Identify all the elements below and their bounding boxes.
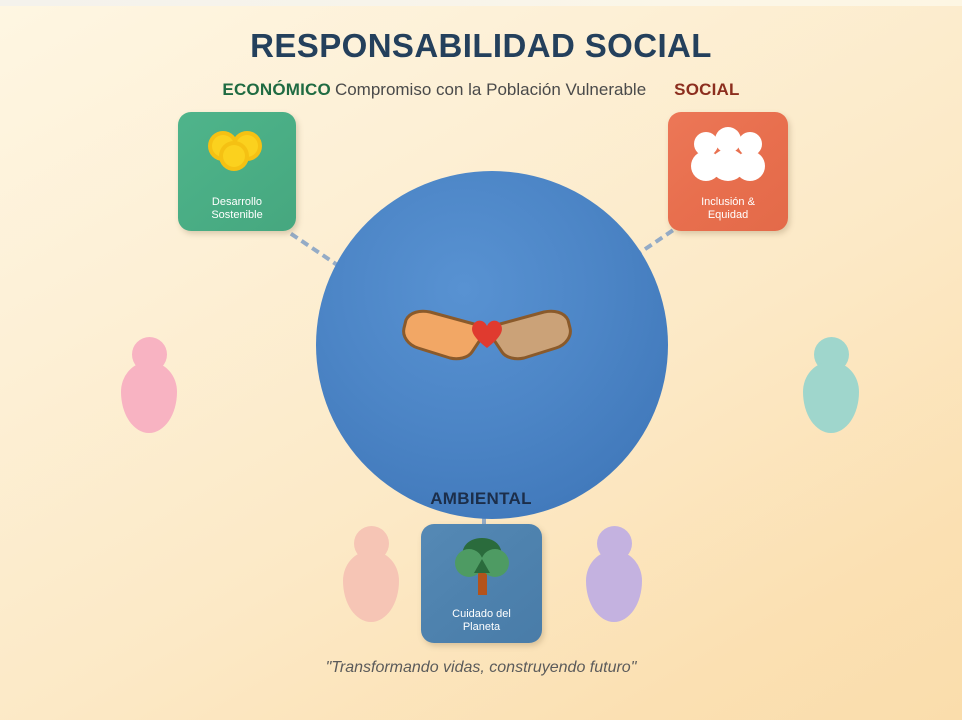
pillar-card-social[interactable]: Inclusión & Equidad [668, 112, 788, 231]
silhouette-salmon [340, 526, 402, 622]
silhouette-body [803, 362, 859, 433]
silhouette-body [121, 362, 177, 433]
silhouette-head [132, 337, 167, 372]
pillar-card-environment[interactable]: Cuidado del Planeta [421, 524, 542, 643]
page-title: RESPONSABILIDAD SOCIAL [0, 27, 962, 65]
silhouette-head [597, 526, 632, 561]
pillar-card-label: Inclusión & Equidad [668, 196, 788, 231]
top-edge-strip [0, 0, 962, 6]
pillar-heading-economico: ECONÓMICO [222, 80, 331, 99]
tree-icon-wrap [421, 524, 542, 608]
silhouette-lavender [583, 526, 645, 622]
people-group-icon-wrap [668, 112, 788, 196]
slide-canvas: RESPONSABILIDAD SOCIAL ECONÓMICOCompromi… [0, 0, 962, 720]
pillar-card-label: Desarrollo Sostenible [178, 196, 296, 231]
hands-holding-heart-icon [396, 298, 578, 362]
subtitle-row: ECONÓMICOCompromiso con la Población Vul… [0, 80, 962, 100]
people-group-icon [689, 127, 767, 181]
coins-icon-wrap [178, 112, 296, 196]
pillar-card-economic[interactable]: Desarrollo Sostenible [178, 112, 296, 231]
pillar-card-label: Cuidado del Planeta [421, 608, 542, 643]
tagline: "Transformando vidas, construyendo futur… [0, 659, 962, 677]
coins-icon [201, 129, 273, 179]
silhouette-head [354, 526, 389, 561]
silhouette-head [814, 337, 849, 372]
subtitle-middle-text: Compromiso con la Población Vulnerable [335, 80, 646, 99]
silhouette-body [343, 551, 399, 622]
pillar-heading-ambiental: AMBIENTAL [0, 489, 962, 509]
tree-icon [450, 536, 514, 596]
silhouette-teal [800, 337, 862, 433]
silhouette-pink [118, 337, 180, 433]
silhouette-body [586, 551, 642, 622]
pillar-heading-social: SOCIAL [674, 80, 739, 99]
